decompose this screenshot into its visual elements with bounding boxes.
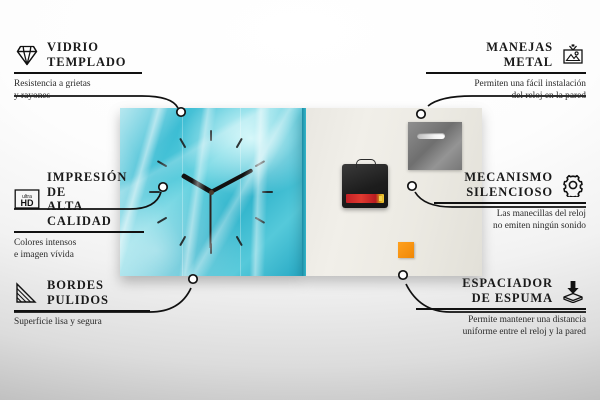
clock-front-panel (120, 108, 302, 276)
clock-tick (211, 191, 266, 224)
feature-bordes-pulidos: BORDES PULIDOS Superficie lisa y segura (14, 278, 150, 328)
gear-icon (560, 173, 586, 197)
metal-hanger-plate (408, 122, 462, 170)
feature-manejas-metal: MANEJAS METAL Permiten una fácil instala… (426, 40, 586, 103)
hanger-slot (417, 133, 445, 139)
clock-dial (120, 108, 302, 276)
clock-tick (149, 191, 211, 193)
polished-edges-icon (14, 281, 40, 305)
clock-tick (179, 138, 212, 193)
infographic-canvas: VIDRIO TEMPLADO Resistencia a grietas y … (0, 0, 600, 400)
feature-title: MECANISMO SILENCIOSO (464, 170, 553, 199)
clock-minute-hand (210, 168, 253, 194)
battery (346, 194, 384, 203)
clock-hour-hand (180, 173, 212, 194)
clock-tick (211, 160, 266, 193)
clock-tick (210, 130, 212, 192)
feature-espaciador-espuma: ESPACIADOR DE ESPUMA Permite mantener un… (416, 276, 586, 339)
feature-description: Permite mantener una distancia uniforme … (416, 314, 586, 339)
divider (426, 72, 586, 74)
clock-tick (179, 192, 212, 247)
feature-description: Colores intensos e imagen vívida (14, 237, 144, 262)
clock-tick (157, 160, 212, 193)
divider (416, 308, 586, 310)
clock-movement (342, 164, 388, 208)
feature-vidrio-templado: VIDRIO TEMPLADO Resistencia a grietas y … (14, 40, 142, 103)
feature-title: VIDRIO TEMPLADO (47, 40, 126, 69)
feature-mecanismo-silencioso: MECANISMO SILENCIOSO Las manecillas del … (434, 170, 586, 233)
foam-spacer (398, 242, 414, 258)
divider (14, 72, 142, 74)
feature-title: IMPRESIÓN DE ALTA CALIDAD (47, 170, 144, 228)
feature-title: ESPACIADOR DE ESPUMA (462, 276, 553, 305)
feature-title: MANEJAS METAL (486, 40, 553, 69)
feature-impresion-alta-calidad: ultra HD IMPRESIÓN DE ALTA CALIDAD Color… (14, 170, 144, 262)
ultra-hd-icon: ultra HD (14, 187, 40, 211)
clock-second-hand (210, 192, 212, 248)
clock-tick (210, 192, 212, 254)
clock-tick (210, 192, 243, 247)
feature-title: BORDES PULIDOS (47, 278, 109, 307)
diamond-icon (14, 43, 40, 67)
divider (434, 202, 586, 204)
clock-tick (211, 191, 273, 193)
divider (14, 310, 150, 312)
divider (14, 231, 144, 233)
foam-spacer-icon (560, 279, 586, 303)
hanger-loop (356, 159, 376, 168)
clock-tick (210, 138, 243, 193)
feature-description: Permiten una fácil instalación del reloj… (426, 78, 586, 103)
glass-edge (302, 108, 306, 276)
picture-frame-icon (560, 43, 586, 67)
clock-tick (157, 191, 212, 224)
svg-text:HD: HD (21, 198, 34, 208)
feature-description: Superficie lisa y segura (14, 316, 150, 329)
clock-center-cap (209, 190, 214, 195)
product-image (120, 108, 482, 280)
feature-description: Resistencia a grietas y rayones (14, 78, 142, 103)
feature-description: Las manecillas del reloj no emiten ningú… (434, 208, 586, 233)
